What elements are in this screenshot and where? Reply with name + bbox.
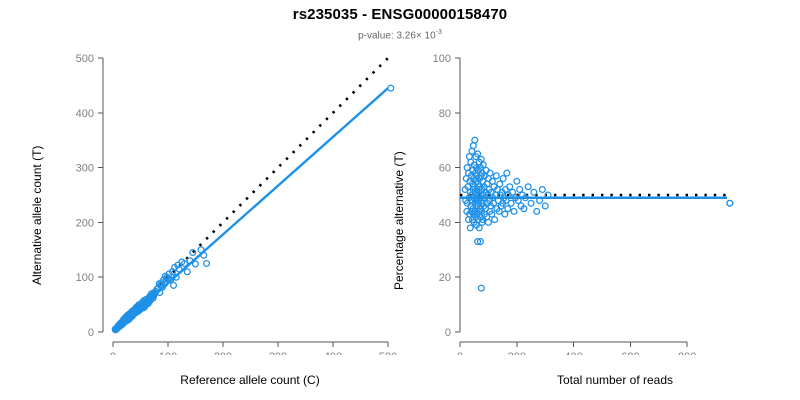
data-point: [511, 209, 517, 215]
right-y-axis-title: Percentage alternative (T): [392, 151, 406, 290]
data-point: [204, 261, 210, 267]
y-tick-label: 300: [76, 163, 94, 175]
y-tick-label: 200: [76, 217, 94, 229]
left-y-axis-title: Alternative allele count (T): [30, 146, 44, 285]
right-scatter-panel: 0204060801000200400600800: [400, 45, 800, 355]
data-point: [497, 181, 503, 187]
x-tick-label: 200: [214, 351, 232, 355]
data-point: [510, 189, 516, 195]
data-point: [493, 173, 499, 179]
pvalue-exponent: -3: [436, 29, 442, 36]
page-title: rs235035 - ENSG00000158470: [0, 6, 800, 23]
data-point: [507, 184, 513, 190]
y-tick-label: 400: [76, 108, 94, 120]
data-point: [467, 225, 473, 231]
data-point: [727, 200, 733, 206]
data-point: [508, 200, 514, 206]
x-tick-label: 400: [564, 351, 582, 355]
y-tick-label: 0: [445, 327, 451, 339]
x-tick-label: 0: [457, 351, 463, 355]
x-tick-label: 600: [621, 351, 639, 355]
data-point: [171, 283, 177, 289]
data-point: [531, 189, 537, 195]
data-point: [184, 269, 190, 275]
data-point: [500, 176, 506, 182]
data-point: [505, 206, 511, 212]
x-tick-label: 0: [110, 351, 116, 355]
left-plot-svg: 01002003004005000100200300400500: [0, 45, 400, 355]
data-point: [472, 137, 478, 143]
data-point: [478, 285, 484, 291]
y-tick-label: 20: [439, 272, 451, 284]
x-tick-label: 200: [508, 351, 526, 355]
data-point: [193, 261, 199, 267]
left-x-axis-title: Reference allele count (C): [100, 373, 400, 387]
data-point: [190, 250, 196, 256]
data-point: [528, 200, 534, 206]
right-x-axis-title: Total number of reads: [450, 373, 780, 387]
data-point: [525, 184, 531, 190]
data-point: [514, 178, 520, 184]
x-tick-label: 500: [379, 351, 397, 355]
y-tick-label: 100: [433, 53, 451, 65]
left-scatter-panel: 01002003004005000100200300400500: [0, 45, 400, 355]
data-point: [486, 220, 492, 226]
x-tick-label: 800: [678, 351, 696, 355]
pvalue-times: × 10: [416, 30, 436, 41]
data-point: [542, 203, 548, 209]
data-point: [517, 187, 523, 193]
y-tick-label: 60: [439, 163, 451, 175]
x-tick-label: 300: [269, 351, 287, 355]
y-tick-label: 40: [439, 217, 451, 229]
figure-root: rs235035 - ENSG00000158470 p-value: 3.26…: [0, 0, 800, 400]
y-tick-label: 100: [76, 272, 94, 284]
data-point: [534, 209, 540, 215]
data-point: [201, 252, 207, 258]
pvalue-subtitle: p-value: 3.26× 10-3: [0, 29, 800, 41]
y-tick-label: 500: [76, 53, 94, 65]
data-point: [539, 187, 545, 193]
pvalue-prefix: p-value: 3.26: [358, 30, 416, 41]
data-point: [388, 85, 394, 91]
data-point: [504, 170, 510, 176]
data-point: [502, 211, 508, 217]
x-tick-label: 400: [324, 351, 342, 355]
y-tick-label: 0: [88, 327, 94, 339]
x-tick-label: 100: [159, 351, 177, 355]
y-tick-label: 80: [439, 108, 451, 120]
data-point: [492, 217, 498, 223]
right-plot-svg: 0204060801000200400600800: [400, 45, 800, 355]
